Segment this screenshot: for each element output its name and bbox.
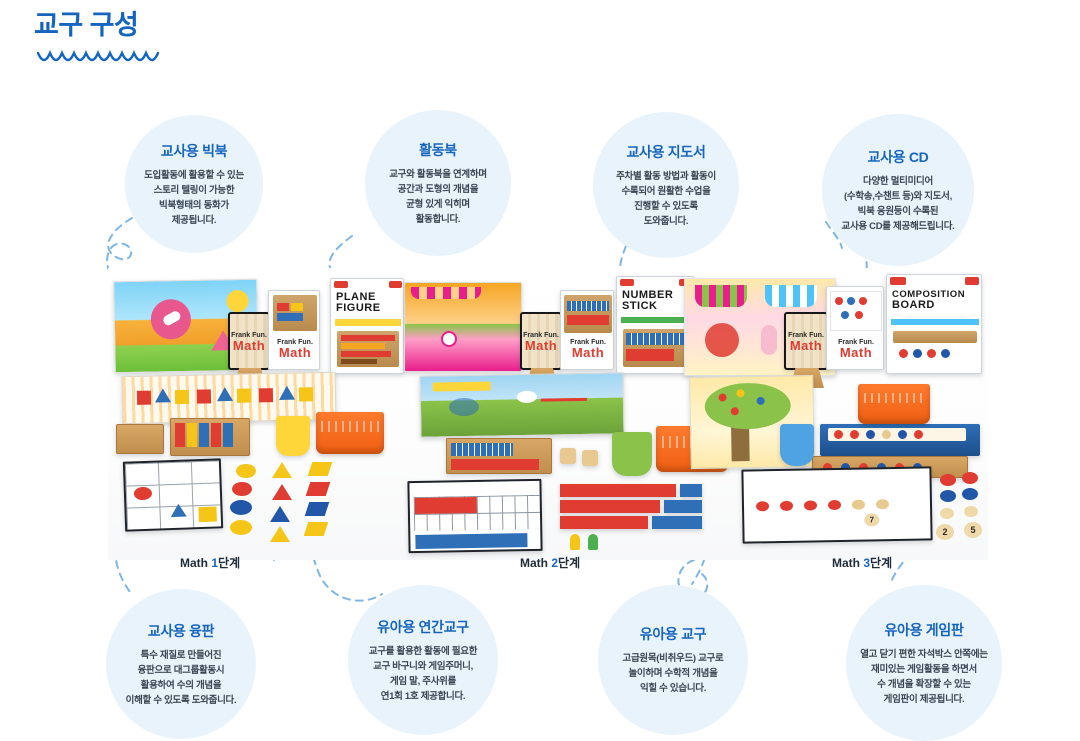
- blue-counter-strip-3: [652, 516, 702, 529]
- bubble-teacher-cd-body: 다양한 멀티미디어 (수학송,수챈트 등)와 지도서, 빅북 응원등이 수록된 …: [842, 174, 955, 234]
- stage-label-math1-suffix: 단계: [218, 556, 240, 570]
- bubble-child-materials[interactable]: 유아용 교구 고급원목(비취우드) 교구로 놀이하며 수학적 개념을 익힐 수 …: [598, 585, 748, 735]
- bubble-teacher-feltboard[interactable]: 교사용 융판 특수 재질로 만들어진 융판으로 대그룹활동시 활용하여 수의 개…: [106, 589, 256, 739]
- page-title: 교구 구성: [34, 8, 334, 42]
- game-pouch-yellow: [276, 416, 310, 456]
- game-pawn-green: [588, 534, 598, 550]
- easel-card-1-line2: Math: [233, 338, 265, 353]
- wooden-tray-2: [170, 418, 250, 456]
- wooden-tray-1: [116, 424, 164, 454]
- title-underline-wave: [36, 50, 166, 72]
- bubble-annual-materials-body: 교구를 활용한 활동에 필요한 교구 바구니와 게임주머니, 게임 말, 주사위…: [369, 644, 477, 704]
- workbook-1-line2: Math: [279, 345, 311, 360]
- stage-label-math2: Math 2단계: [520, 554, 580, 571]
- bubble-teacher-guide-title: 교사용 지도서: [626, 142, 705, 162]
- bubble-child-materials-title: 유아용 교구: [640, 624, 707, 644]
- workbook-2-line2: Math: [572, 345, 604, 360]
- product-photo-collage: Frank Fun. Math Frank Fun. Math PLANE FI…: [108, 268, 988, 560]
- worksheet-stage2: [407, 479, 542, 553]
- package-plane-figure: PLANE FIGURE: [330, 278, 404, 374]
- bubble-teacher-feltboard-body: 특수 재질로 만들어진 융판으로 대그룹활동시 활용하여 수의 개념을 이해할 …: [126, 648, 237, 708]
- blue-counter-strip-1: [680, 484, 702, 497]
- stage-label-math3-suffix: 단계: [870, 556, 892, 570]
- bubble-child-gameboard-body: 열고 닫기 편한 자석박스 안쪽에는 재미있는 게임활동을 하면서 수 개념을 …: [860, 647, 988, 707]
- composition-board-blue: [820, 424, 980, 456]
- bubble-teacher-cd-title: 교사용 CD: [868, 147, 929, 167]
- package-number-stick: NUMBER STICK: [616, 276, 694, 374]
- bubble-activity-book-title: 활동북: [419, 140, 457, 160]
- bubble-teacher-feltboard-title: 교사용 융판: [148, 621, 215, 641]
- workbook-3: Frank Fun. Math: [826, 286, 884, 370]
- easel-card-2: Frank Fun. Math: [520, 312, 562, 370]
- workbook-2: Frank Fun. Math: [560, 290, 614, 370]
- bubble-teacher-guide[interactable]: 교사용 지도서 주차별 활동 방법과 활동이 수록되어 원활한 수업을 진행할 …: [593, 112, 739, 258]
- number-stick-tray: [446, 438, 552, 474]
- attr-chip-red-1: [232, 482, 252, 496]
- attr-chip-blue-1: [230, 500, 252, 515]
- workbook-3-line2: Math: [840, 345, 872, 360]
- game-pouch-blue: [780, 424, 814, 466]
- counter-blue-1: [940, 490, 956, 502]
- stage-label-math3-prefix: Math: [832, 556, 863, 570]
- blue-counter-strip-2: [664, 500, 702, 513]
- easel-card-1: Frank Fun. Math: [228, 312, 270, 370]
- stage-label-math1-prefix: Math: [180, 556, 211, 570]
- bubble-activity-book[interactable]: 활동북 교구와 활동북을 연계하며 공간과 도형의 개념을 균형 있게 익히며 …: [365, 110, 511, 256]
- counter-red-1: [940, 474, 956, 486]
- easel-card-2-line2: Math: [525, 338, 557, 353]
- attr-triangle-yellow-2: [270, 526, 290, 542]
- bubble-teacher-bigbook[interactable]: 교사용 빅북 도입활동에 활용할 수 있는 스토리 텔링이 가능한 빅북형태의 …: [125, 115, 263, 253]
- counter-blue-2: [962, 488, 978, 500]
- number-tile-2: 2: [936, 524, 954, 540]
- material-basket-3: [858, 384, 930, 424]
- workbook-1: Frank Fun. Math: [268, 290, 320, 370]
- number-bar-9: [560, 500, 660, 513]
- bubble-teacher-cd[interactable]: 교사용 CD 다양한 멀티미디어 (수학송,수챈트 등)와 지도서, 빅북 응원…: [822, 114, 974, 266]
- bubble-child-gameboard-title: 유아용 게임판: [884, 620, 963, 640]
- gameboard-map-stage2: [419, 372, 624, 438]
- worksheet-stage1: [123, 458, 223, 531]
- bubble-child-materials-body: 고급원목(비취우드) 교구로 놀이하며 수학적 개념을 익힐 수 있습니다.: [623, 651, 724, 696]
- attr-triangle-yellow: [272, 462, 292, 478]
- counter-wood-2: [964, 506, 978, 517]
- attr-chip-yellow-2: [230, 520, 252, 535]
- number-bar-8: [560, 516, 648, 529]
- material-basket-1: [316, 412, 384, 454]
- stage-label-math2-suffix: 단계: [558, 556, 580, 570]
- stage-label-math2-prefix: Math: [520, 556, 551, 570]
- game-pawn-yellow: [570, 534, 580, 550]
- attr-chip-yellow-1: [236, 464, 256, 478]
- bigbook-stage2: [404, 282, 522, 372]
- game-pouch-green: [612, 432, 652, 476]
- bubble-annual-materials[interactable]: 유아용 연간교구 교구를 활용한 활동에 필요한 교구 바구니와 게임주머니, …: [348, 585, 498, 735]
- stage-label-math1: Math 1단계: [180, 554, 240, 571]
- bubble-activity-book-body: 교구와 활동북을 연계하며 공간과 도형의 개념을 균형 있게 익히며 활동합니…: [389, 167, 487, 227]
- bubble-child-gameboard[interactable]: 유아용 게임판 열고 닫기 편한 자석박스 안쪽에는 재미있는 게임활동을 하면…: [846, 585, 1002, 741]
- easel-card-3-line2: Math: [790, 338, 822, 353]
- page-title-block: 교구 구성: [34, 8, 334, 78]
- bubble-teacher-bigbook-title: 교사용 빅북: [161, 141, 228, 161]
- circle-gameboard-stage3: 7: [741, 466, 932, 543]
- package-composition-board: COMPOSITION BOARD: [886, 274, 982, 374]
- attr-triangle-red: [272, 484, 292, 500]
- easel-card-3: Frank Fun. Math: [784, 312, 828, 370]
- counter-red-2: [962, 472, 978, 484]
- dice-1: [560, 448, 576, 464]
- counter-wood-1: [940, 508, 954, 519]
- package-number-stick-line2: STICK: [622, 300, 658, 312]
- number-tile-5: 5: [964, 522, 982, 538]
- stage-label-math3: Math 3단계: [832, 554, 892, 571]
- bubble-annual-materials-title: 유아용 연간교구: [377, 617, 469, 637]
- package-composition-board-line2: BOARD: [892, 299, 935, 311]
- package-plane-figure-line2: FIGURE: [336, 302, 381, 314]
- bubble-teacher-guide-body: 주차별 활동 방법과 활동이 수록되어 원활한 수업을 진행할 수 있도록 도와…: [616, 169, 716, 229]
- attr-triangle-blue: [270, 506, 290, 522]
- number-bar-10: [560, 484, 676, 497]
- bubble-teacher-bigbook-body: 도입활동에 활용할 수 있는 스토리 텔링이 가능한 빅북형태의 동화가 제공됩…: [144, 168, 244, 228]
- dice-2: [582, 450, 598, 466]
